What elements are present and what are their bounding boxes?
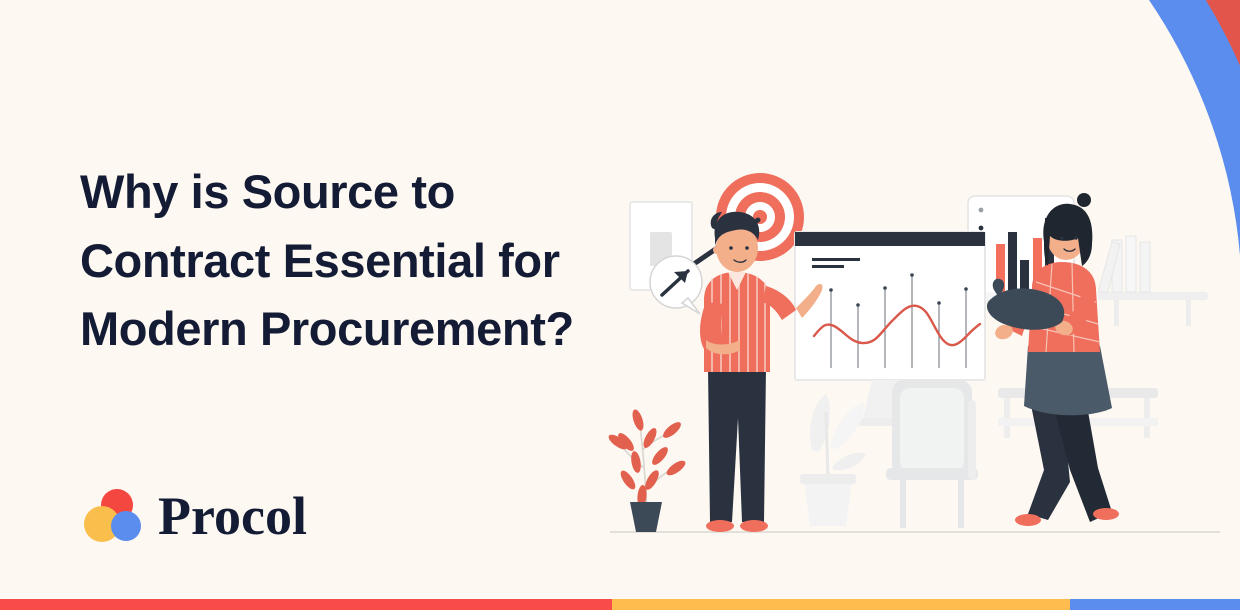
plant-red <box>606 408 687 532</box>
man-pants <box>708 368 766 522</box>
woman-skirt <box>1024 346 1112 415</box>
logo-circle-blue <box>111 511 141 541</box>
banner-root: Why is Source to Contract Essential for … <box>0 0 1240 610</box>
plant-white <box>800 394 866 526</box>
bottom-bar-red-segment <box>0 599 612 610</box>
bottom-color-bar <box>0 599 1240 610</box>
procol-wordmark: Procol <box>158 489 307 543</box>
plant-red-leaves <box>606 408 687 507</box>
bottom-bar-blue-segment <box>1070 599 1240 610</box>
procol-logo-icon <box>82 488 144 544</box>
man-shoe-left <box>706 520 734 532</box>
chair <box>886 380 978 528</box>
page-headline: Why is Source to Contract Essential for … <box>80 158 610 364</box>
bottom-bar-yellow-segment <box>612 599 1070 610</box>
woman-shoe-back <box>1015 514 1041 526</box>
wall-shelf <box>1098 236 1208 326</box>
man-shoe-right <box>740 520 768 532</box>
brand-logo: Procol <box>82 488 307 544</box>
woman-shoe-front <box>1093 508 1119 520</box>
office-illustration <box>600 150 1240 570</box>
speech-bubble-growth <box>650 256 702 314</box>
poster-bars-right <box>1015 208 1025 292</box>
